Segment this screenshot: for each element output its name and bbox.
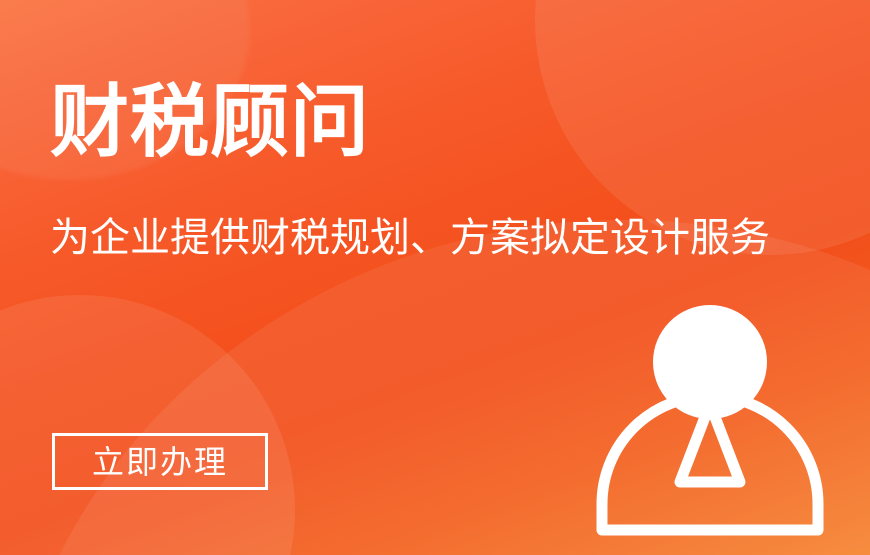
apply-now-button[interactable]: 立即办理 <box>52 433 268 490</box>
promo-banner: 财税顾问 为企业提供财税规划、方案拟定设计服务 立即办理 <box>0 0 870 555</box>
banner-content: 财税顾问 为企业提供财税规划、方案拟定设计服务 立即办理 <box>0 0 870 555</box>
apply-now-button-label: 立即办理 <box>92 446 228 478</box>
person-tie-shape <box>680 404 740 482</box>
banner-headline: 财税顾问 <box>50 82 370 161</box>
person-consultant-icon <box>588 296 838 541</box>
banner-subheadline: 为企业提供财税规划、方案拟定设计服务 <box>50 218 770 258</box>
